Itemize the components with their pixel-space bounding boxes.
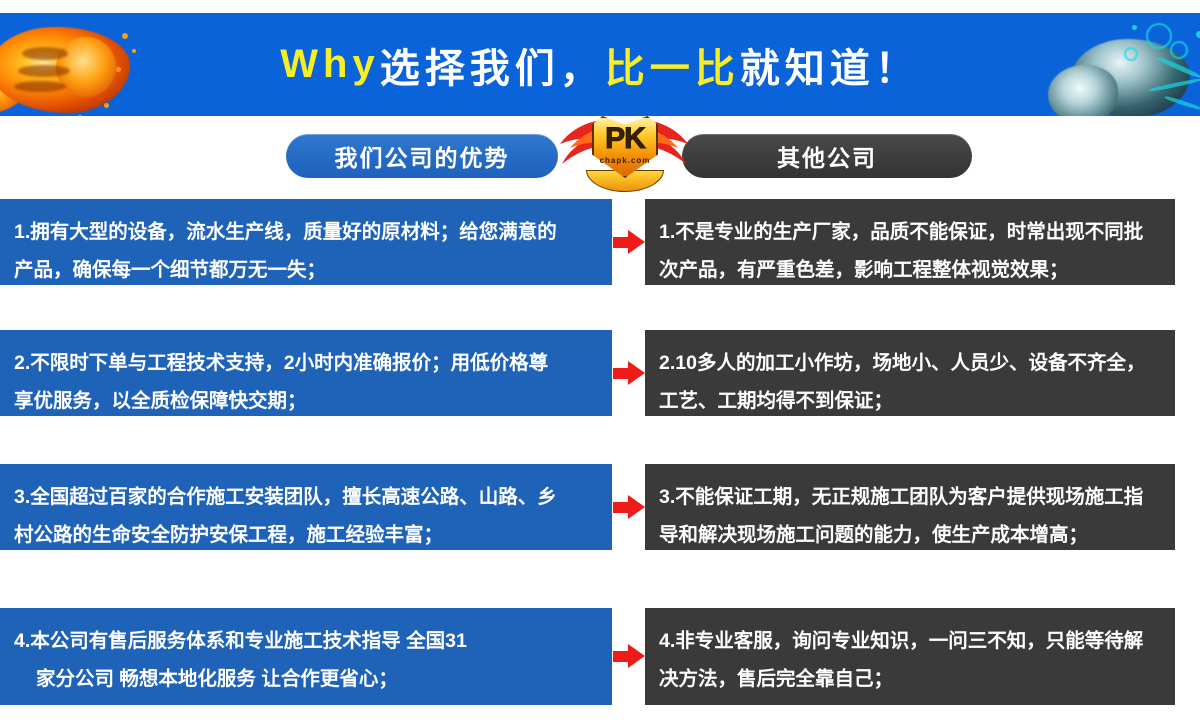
logo-pk-text: PK — [592, 124, 658, 154]
row-others-cell: 1.不是专业的生产厂家，品质不能保证，时常出现不同批 次产品，有严重色差，影响工… — [645, 199, 1175, 285]
arrow-right-icon — [613, 495, 645, 519]
row-others-cell: 2.10多人的加工小作坊，场地小、人员少、设备不齐全， 工艺、工期均得不到保证； — [645, 330, 1175, 416]
row-others-line: 导和解决现场施工问题的能力，使生产成本增高； — [659, 516, 1157, 554]
pk-logo: PK chapk.com — [562, 104, 686, 196]
title-part-why: Why — [280, 42, 379, 87]
arrow-right-icon — [613, 230, 645, 254]
arrow-right-icon — [613, 644, 645, 668]
row-ours-cell: 1.拥有大型的设备，流水生产线，质量好的原材料；给您满意的 产品，确保每一个细节… — [0, 199, 612, 285]
row-ours-cell: 2.不限时下单与工程技术支持，2小时内准确报价；用低价格尊 享优服务，以全质检保… — [0, 330, 612, 416]
page-title: Why 选择我们， 比一比 就知道！ — [0, 13, 1200, 116]
row-others-line: 工艺、工期均得不到保证； — [659, 382, 1157, 420]
row-ours-cell: 3.全国超过百家的合作施工安装团队，擅长高速公路、山路、乡 村公路的生命安全防护… — [0, 464, 612, 550]
row-ours-line: 2.不限时下单与工程技术支持，2小时内准确报价；用低价格尊 — [14, 344, 594, 382]
logo-site-text: chapk.com — [592, 156, 658, 165]
table-row: 1.拥有大型的设备，流水生产线，质量好的原材料；给您满意的 产品，确保每一个细节… — [0, 199, 1200, 285]
row-ours-line: 1.拥有大型的设备，流水生产线，质量好的原材料；给您满意的 — [14, 213, 594, 251]
row-ours-line: 4.本公司有售后服务体系和专业施工技术指导 全国31 — [14, 622, 594, 660]
row-others-line: 1.不是专业的生产厂家，品质不能保证，时常出现不同批 — [659, 213, 1157, 251]
row-ours-line: 村公路的生命安全防护安保工程，施工经验丰富； — [14, 516, 594, 554]
table-row: 2.不限时下单与工程技术支持，2小时内准确报价；用低价格尊 享优服务，以全质检保… — [0, 330, 1200, 416]
table-row: 4.本公司有售后服务体系和专业施工技术指导 全国31 家分公司 畅想本地化服务 … — [0, 608, 1200, 705]
header-banner: Why 选择我们， 比一比 就知道！ — [0, 13, 1200, 116]
table-row: 3.全国超过百家的合作施工安装团队，擅长高速公路、山路、乡 村公路的生命安全防护… — [0, 464, 1200, 550]
row-others-cell: 3.不能保证工期，无正规施工团队为客户提供现场施工指 导和解决现场施工问题的能力… — [645, 464, 1175, 550]
row-others-line: 2.10多人的加工小作坊，场地小、人员少、设备不齐全， — [659, 344, 1157, 382]
title-part-know: 就知道！ — [740, 36, 920, 94]
row-ours-line: 产品，确保每一个细节都万无一失； — [14, 251, 594, 289]
row-others-line: 次产品，有严重色差，影响工程整体视觉效果； — [659, 251, 1157, 289]
row-others-line: 3.不能保证工期，无正规施工团队为客户提供现场施工指 — [659, 478, 1157, 516]
title-part-compare: 比一比 — [605, 36, 740, 94]
row-others-cell: 4.非专业客服，询问专业知识，一问三不知，只能等待解 决方法，售后完全靠自己； — [645, 608, 1175, 705]
row-ours-line: 享优服务，以全质检保障快交期； — [14, 382, 594, 420]
row-ours-cell: 4.本公司有售后服务体系和专业施工技术指导 全国31 家分公司 畅想本地化服务 … — [0, 608, 612, 705]
arrow-right-icon — [613, 361, 645, 385]
row-others-line: 决方法，售后完全靠自己； — [659, 660, 1157, 698]
row-ours-line: 家分公司 畅想本地化服务 让合作更省心； — [14, 660, 398, 698]
title-part-choose: 选择我们， — [380, 36, 605, 94]
row-others-line: 4.非专业客服，询问专业知识，一问三不知，只能等待解 — [659, 622, 1157, 660]
row-ours-line: 3.全国超过百家的合作施工安装团队，擅长高速公路、山路、乡 — [14, 478, 594, 516]
